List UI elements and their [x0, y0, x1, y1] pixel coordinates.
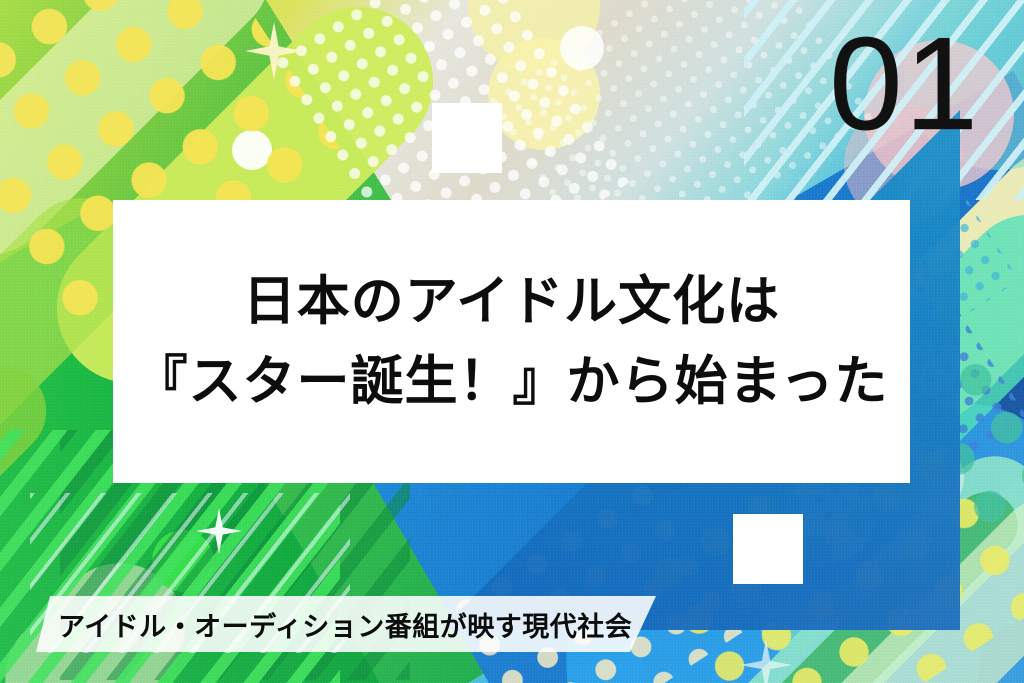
title-line-2: 『スター誕生！』から始まった: [135, 347, 889, 417]
subtitle-band: アイドル・オーディション番組が映す現代社会: [36, 596, 656, 652]
subtitle-text: アイドル・オーディション番組が映す現代社会: [36, 605, 632, 644]
decorative-white-square-top: [432, 103, 502, 173]
decorative-white-square-bottom: [733, 514, 803, 584]
slide-number: 01: [829, 18, 980, 150]
title-card: 日本のアイドル文化は 『スター誕生！』から始まった: [113, 200, 910, 483]
title-line-1: 日本のアイドル文化は: [243, 267, 780, 337]
slide-canvas: 01 日本のアイドル文化は 『スター誕生！』から始まった アイドル・オーディショ…: [0, 0, 1024, 683]
